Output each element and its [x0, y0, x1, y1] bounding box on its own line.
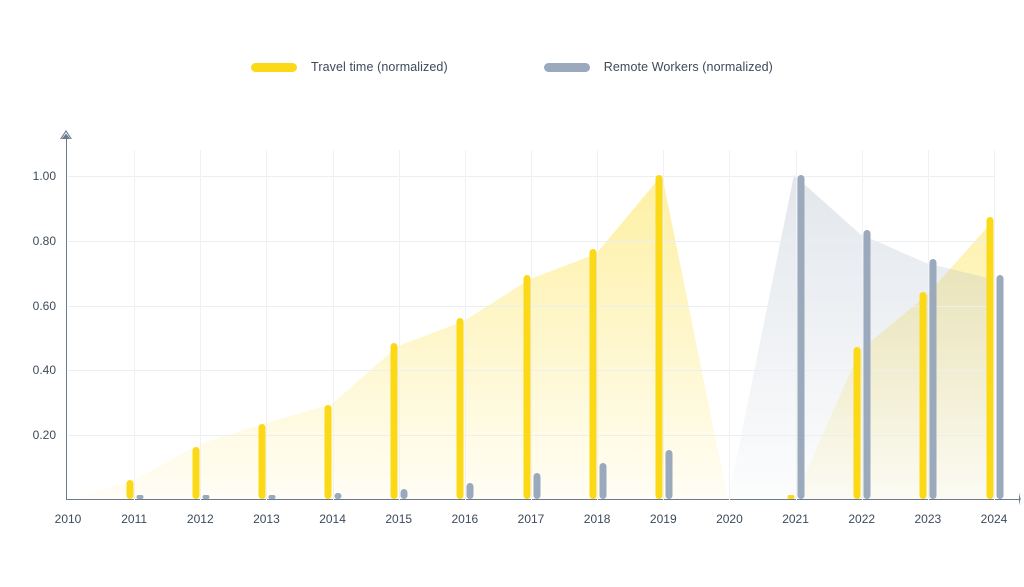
y-axis-tick-label: 1.00: [33, 169, 56, 183]
x-axis-tick-label: 2012: [187, 512, 214, 526]
x-axis-tick-label: 2019: [650, 512, 677, 526]
bar-remote-workers-2012[interactable]: [202, 495, 209, 499]
gridline-vertical: [200, 150, 201, 500]
x-axis-tick-label: 2024: [981, 512, 1008, 526]
x-axis-tick-label: 2015: [385, 512, 412, 526]
legend-label-remote-workers: Remote Workers (normalized): [604, 60, 773, 74]
bar-travel-time-2011[interactable]: [126, 480, 133, 499]
x-axis-tick-label: 2010: [55, 512, 82, 526]
gridline-vertical: [729, 150, 730, 500]
bar-remote-workers-2013[interactable]: [268, 495, 275, 499]
x-axis-tick-label: 2018: [584, 512, 611, 526]
gridline-vertical: [597, 150, 598, 500]
gridline-vertical: [796, 150, 797, 500]
gridline-vertical: [266, 150, 267, 500]
bar-remote-workers-2017[interactable]: [533, 473, 540, 499]
y-axis-tick-label: 0.20: [33, 428, 56, 442]
bar-remote-workers-2018[interactable]: [599, 463, 606, 499]
x-axis-tick-label: 2011: [121, 512, 147, 526]
bar-travel-time-2015[interactable]: [391, 343, 398, 499]
gridline-vertical: [663, 150, 664, 500]
gridline-vertical: [531, 150, 532, 500]
bar-remote-workers-2015[interactable]: [401, 489, 408, 499]
gridline-vertical: [134, 150, 135, 500]
bar-travel-time-2019[interactable]: [655, 175, 662, 499]
legend-item-remote-workers[interactable]: Remote Workers (normalized): [544, 60, 773, 74]
bar-travel-time-2024[interactable]: [986, 217, 993, 499]
bar-remote-workers-2019[interactable]: [665, 450, 672, 499]
legend-item-travel-time[interactable]: Travel time (normalized): [251, 60, 448, 74]
bar-travel-time-2017[interactable]: [523, 275, 530, 499]
bar-travel-time-2023[interactable]: [920, 292, 927, 499]
gridline-vertical: [333, 150, 334, 500]
plot-area: 0.200.400.600.801.00 2010201120122013201…: [68, 150, 994, 500]
bar-remote-workers-2024[interactable]: [996, 275, 1003, 499]
bar-travel-time-2021[interactable]: [788, 495, 795, 499]
bar-remote-workers-2011[interactable]: [136, 495, 143, 499]
x-axis-tick-label: 2023: [914, 512, 941, 526]
bar-travel-time-2013[interactable]: [258, 424, 265, 499]
legend-swatch-travel-time: [251, 63, 297, 72]
bar-travel-time-2014[interactable]: [325, 405, 332, 499]
bar-travel-time-2016[interactable]: [457, 318, 464, 499]
chart-container: Travel time (normalized) Remote Workers …: [0, 0, 1024, 587]
bar-remote-workers-2023[interactable]: [930, 259, 937, 499]
gridline-vertical: [399, 150, 400, 500]
x-axis-tick-label: 2020: [716, 512, 743, 526]
bar-travel-time-2022[interactable]: [854, 347, 861, 499]
x-axis-arrow-icon: [1019, 493, 1024, 505]
x-axis-tick-label: 2017: [518, 512, 545, 526]
y-axis-arrow-icon: [60, 130, 72, 139]
area-fill-remote-workers: [662, 175, 992, 500]
bar-remote-workers-2021[interactable]: [798, 175, 805, 499]
gridline-vertical: [928, 150, 929, 500]
y-axis-tick-label: 0.40: [33, 363, 56, 377]
chart-legend: Travel time (normalized) Remote Workers …: [0, 60, 1024, 74]
x-axis-line: [66, 499, 1022, 501]
gridline-vertical: [994, 150, 995, 500]
bar-remote-workers-2022[interactable]: [864, 230, 871, 499]
gridline-vertical: [862, 150, 863, 500]
x-axis-tick-label: 2014: [319, 512, 346, 526]
bar-remote-workers-2016[interactable]: [467, 483, 474, 499]
y-axis-line: [66, 136, 67, 500]
bar-travel-time-2012[interactable]: [192, 447, 199, 499]
legend-swatch-remote-workers: [544, 63, 590, 72]
x-axis-tick-label: 2013: [253, 512, 280, 526]
gridline-vertical: [465, 150, 466, 500]
x-axis-tick-label: 2021: [782, 512, 809, 526]
y-axis-tick-label: 0.60: [33, 299, 56, 313]
y-axis-tick-label: 0.80: [33, 234, 56, 248]
x-axis-tick-label: 2022: [848, 512, 875, 526]
bar-travel-time-2018[interactable]: [589, 249, 596, 499]
x-axis-tick-label: 2016: [451, 512, 478, 526]
plot-inner: 0.200.400.600.801.00 2010201120122013201…: [68, 150, 994, 500]
legend-label-travel-time: Travel time (normalized): [311, 60, 448, 74]
